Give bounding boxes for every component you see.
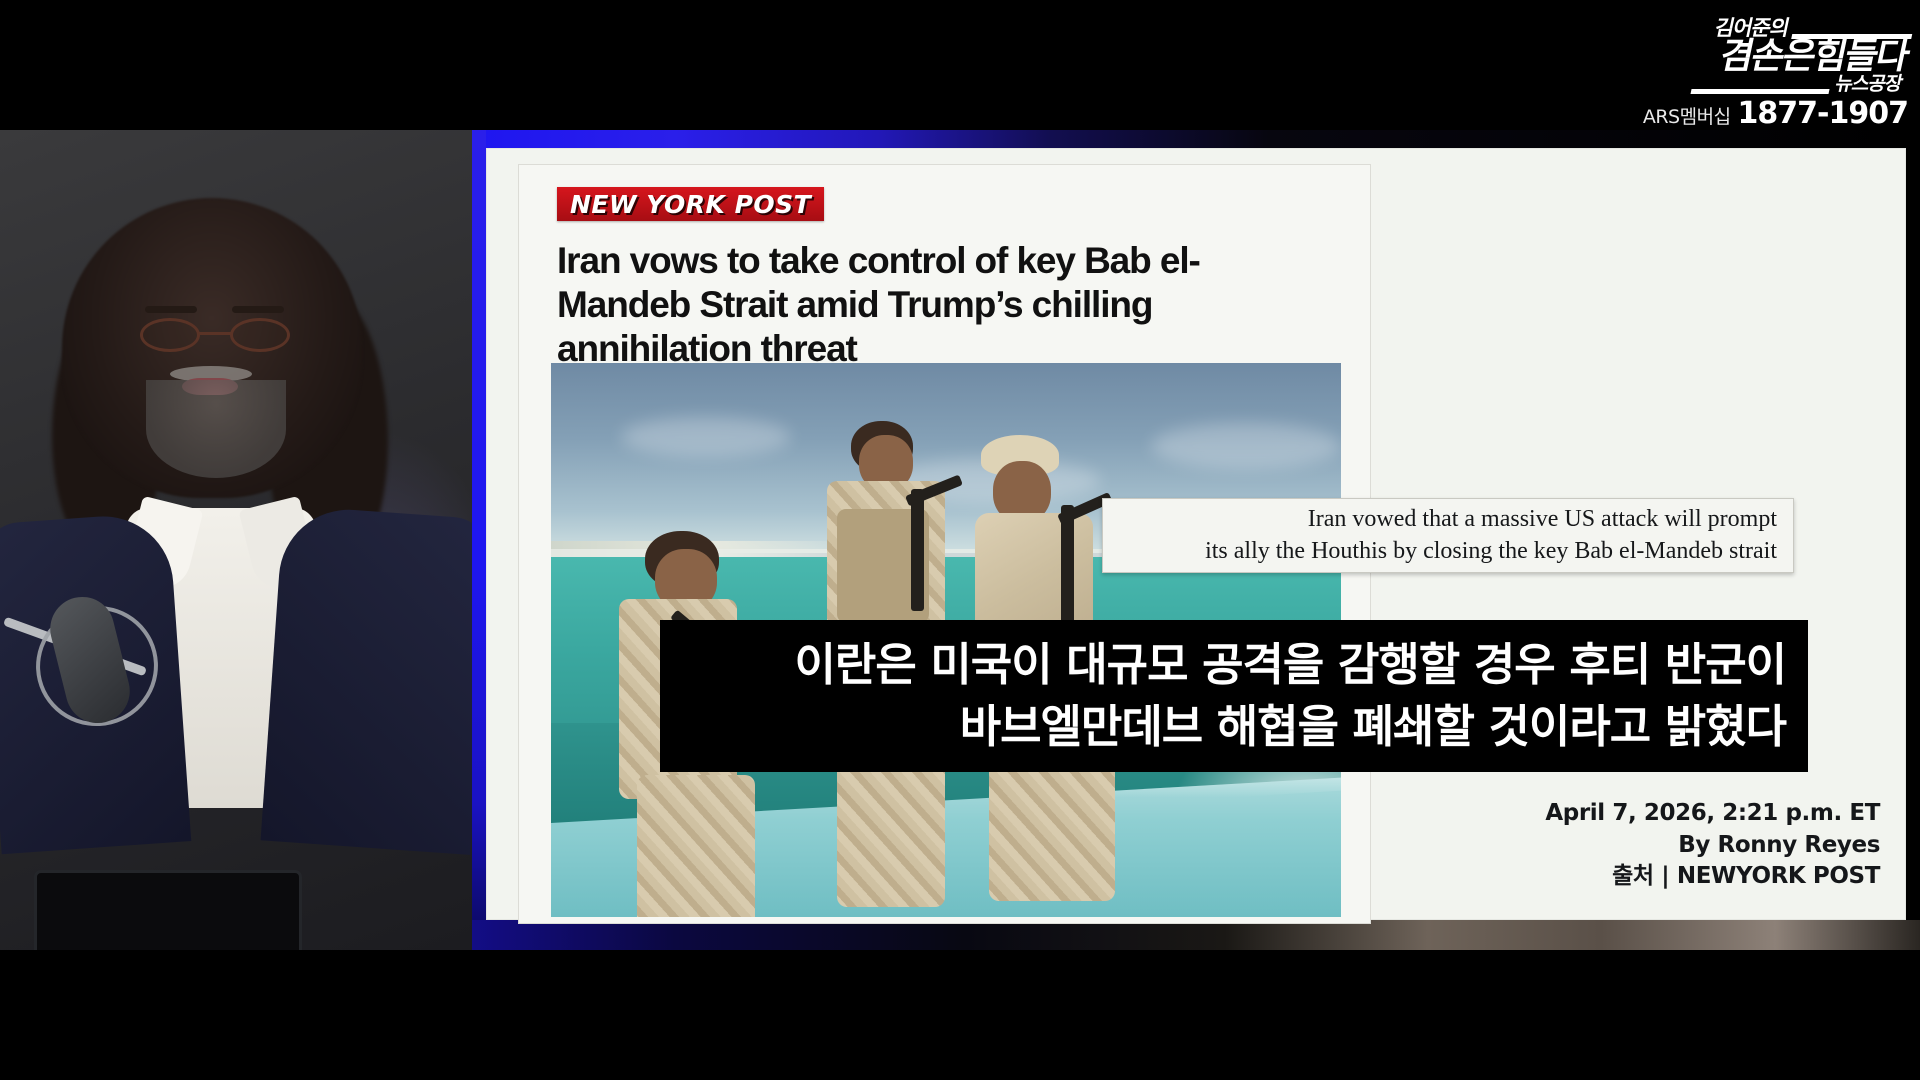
- ars-label: ARS멤버십: [1643, 102, 1731, 129]
- soldier-center-rifle: [911, 489, 924, 611]
- channel-branding: 김어준의 겸손은힘들다 뉴스공장 ARS멤버십 1877-1907: [1488, 18, 1908, 130]
- cloud-3: [1151, 423, 1341, 469]
- logo-line-2: 겸손은힘들다: [1717, 40, 1911, 74]
- article-date: April 7, 2026, 2:21 p.m. ET: [1460, 798, 1880, 830]
- ars-number: 1877-1907: [1738, 96, 1908, 131]
- studio-video-feed: 공 장 장: [0, 130, 472, 950]
- letterbox-bottom: [0, 950, 1920, 1080]
- soldier-left-legs: [637, 775, 755, 917]
- news-slide: NEW YORK POST Iran vows to take control …: [472, 130, 1920, 950]
- article-meta: April 7, 2026, 2:21 p.m. ET By Ronny Rey…: [1460, 798, 1880, 893]
- logo-line-3: 뉴스공장: [1834, 75, 1904, 94]
- broadcast-frame: 김어준의 겸손은힘들다 뉴스공장 ARS멤버십 1877-1907: [0, 0, 1920, 1080]
- slide-page: NEW YORK POST Iran vows to take control …: [486, 148, 1906, 920]
- slide-border-bottom: [472, 920, 1920, 950]
- article-source-credit: 출처 | NEWYORK POST: [1460, 861, 1880, 893]
- nypost-logo-text: NEW YORK POST: [570, 190, 811, 219]
- eyebrow-left: [145, 306, 197, 313]
- headline-line-1: Iran vows to take control of key Bab el-: [557, 239, 1337, 283]
- callout-line-2: its ally the Houthis by closing the key …: [1205, 536, 1777, 568]
- headline-line-2: Mandeb Strait amid Trump’s chilling: [557, 283, 1337, 327]
- beard: [146, 380, 286, 478]
- program-logo: 김어준의 겸손은힘들다 뉴스공장: [1590, 18, 1915, 90]
- cloud-1: [621, 417, 791, 457]
- slide-border-left: [472, 130, 486, 920]
- logo-bar-2: [1691, 89, 1830, 94]
- callout-line-1: Iran vowed that a massive US attack will…: [1308, 504, 1777, 536]
- jacket-right: [261, 505, 472, 855]
- ars-membership: ARS멤버십 1877-1907: [1643, 96, 1908, 131]
- lens-right: [230, 318, 290, 352]
- article-byline: By Ronny Reyes: [1460, 830, 1880, 862]
- subtitle-line-2: 바브엘만데브 해협을 폐쇄할 것이라고 밝혔다: [960, 698, 1786, 756]
- glasses-bridge: [198, 332, 232, 335]
- article-headline: Iran vows to take control of key Bab el-…: [557, 239, 1337, 371]
- eyebrow-right: [232, 306, 284, 313]
- nypost-logo: NEW YORK POST: [557, 187, 824, 221]
- subtitle-line-1: 이란은 미국이 대규모 공격을 감행할 경우 후티 반군이: [795, 636, 1786, 694]
- lens-left: [140, 318, 200, 352]
- english-callout: Iran vowed that a massive US attack will…: [1102, 498, 1794, 573]
- korean-subtitle: 이란은 미국이 대규모 공격을 감행할 경우 후티 반군이 바브엘만데브 해협을…: [660, 620, 1808, 772]
- laptop: [34, 870, 302, 950]
- slide-border-top: [472, 130, 1920, 148]
- glasses-icon: [140, 318, 290, 352]
